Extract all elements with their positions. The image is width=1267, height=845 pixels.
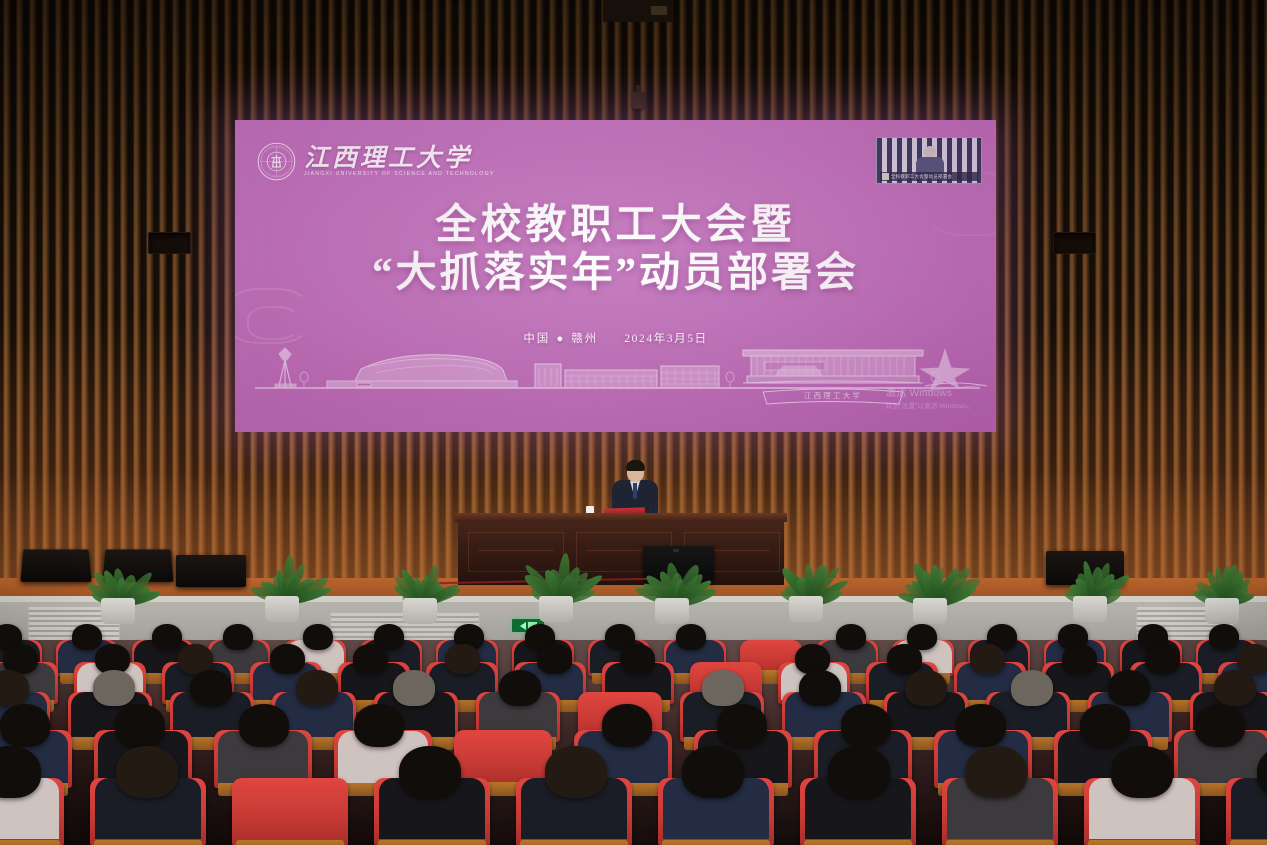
- seated-audience-member-head: [905, 670, 947, 706]
- seated-audience-member-head: [445, 644, 480, 674]
- seated-audience-member-head: [717, 704, 767, 747]
- plant-pot: [655, 598, 689, 624]
- seated-audience-member-head: [965, 746, 1027, 798]
- seated-audience-member-head: [354, 704, 404, 747]
- seated-audience-member-head: [702, 670, 744, 706]
- seated-audience-member-head: [799, 670, 841, 706]
- residential-block-icon: [535, 364, 719, 388]
- seated-audience-member-head: [1145, 644, 1180, 674]
- seated-audience-member-head: [1209, 624, 1239, 650]
- table-top: [455, 513, 787, 522]
- ceiling-projector-icon: [632, 92, 645, 109]
- screen-title-line2: “大抓落实年”动员部署会: [235, 248, 996, 296]
- auditorium-seat: [232, 778, 348, 845]
- seated-audience-member-head: [841, 704, 891, 747]
- potted-plant: [906, 544, 954, 624]
- seated-audience-member-head: [72, 624, 102, 650]
- campus-skyline-illustration: 江西理工大学: [235, 336, 996, 410]
- university-logo-lockup: 江西理工大学 JIANGXI UNIVERSITY OF SCIENCE AND…: [257, 142, 495, 181]
- seated-audience-member-head: [223, 624, 253, 650]
- plant-pot: [913, 598, 947, 624]
- university-name-en: JIANGXI UNIVERSITY OF SCIENCE AND TECHNO…: [304, 172, 495, 177]
- potted-plant: [1198, 552, 1246, 624]
- speaker-hair: [626, 460, 645, 471]
- seated-audience-member-head: [115, 704, 165, 747]
- seated-audience-member-head: [0, 704, 50, 747]
- seated-audience-member-head: [828, 746, 890, 798]
- seated-audience-member-head: [116, 746, 178, 798]
- seated-audience-member-head: [239, 704, 289, 747]
- screen-title-line1: 全校教职工大会暨: [235, 200, 996, 248]
- potted-plant: [94, 550, 142, 624]
- plant-pot: [101, 598, 135, 624]
- conference-table: [455, 513, 787, 585]
- seated-audience-member-head: [1011, 670, 1053, 706]
- potted-plant: [258, 544, 306, 622]
- stage-monitor-left-1: [20, 550, 91, 582]
- seated-audience-member-head: [303, 624, 333, 650]
- seated-audience-member-head: [545, 746, 607, 798]
- seated-audience-member-head: [93, 670, 135, 706]
- potted-plant: [1066, 548, 1114, 622]
- wall-speaker-left: [148, 232, 191, 254]
- pip-video-feed: 全校教职工大会暨动员部署会: [876, 137, 982, 184]
- seated-audience-member-head: [1237, 644, 1267, 674]
- seated-audience-member-head: [1062, 644, 1097, 674]
- exit-arrow-icon: [520, 622, 526, 630]
- seated-audience-member-head: [1111, 746, 1173, 798]
- seated-audience-member-head: [970, 644, 1005, 674]
- potted-plant: [396, 552, 444, 624]
- seated-audience-member-head: [682, 746, 744, 798]
- seated-audience-member-head: [1108, 670, 1150, 706]
- seated-audience-member-head: [887, 644, 922, 674]
- screen-title-block: 全校教职工大会暨 “大抓落实年”动员部署会: [235, 200, 996, 297]
- seated-audience-member-head: [190, 670, 232, 706]
- seated-audience-member-head: [393, 670, 435, 706]
- wall-speaker-right: [1053, 232, 1096, 254]
- plant-pot: [1073, 596, 1107, 622]
- seated-audience-member-head: [676, 624, 706, 650]
- pip-caption-thumb-icon: [882, 173, 889, 180]
- seated-audience-member-head: [152, 624, 182, 650]
- pip-caption-bar: 全校教职工大会暨动员部署会: [880, 172, 978, 181]
- ceiling-equipment-box: [651, 6, 667, 15]
- seated-audience-member-head: [1195, 704, 1245, 747]
- seated-audience-member-head: [399, 746, 461, 798]
- seated-audience-member-head: [270, 644, 305, 674]
- star-landmark-icon: [921, 350, 987, 391]
- potted-plant: [532, 542, 580, 622]
- pip-caption-text: 全校教职工大会暨动员部署会: [891, 174, 952, 180]
- speaker-tie: [633, 483, 637, 498]
- seated-audience-member-head: [836, 624, 866, 650]
- seated-audience-member-head: [602, 704, 652, 747]
- led-presentation-screen: 江西理工大学 JIANGXI UNIVERSITY OF SCIENCE AND…: [235, 120, 996, 432]
- stage-monitor-left-3: [176, 555, 246, 587]
- plant-pot: [403, 598, 437, 624]
- seated-audience-member-head: [537, 644, 572, 674]
- seated-audience-member-head: [499, 670, 541, 706]
- plant-pot: [1205, 598, 1239, 624]
- seated-audience-member-head: [1214, 670, 1256, 706]
- seated-audience-member-head: [296, 670, 338, 706]
- monument-sculpture-icon: [275, 348, 296, 388]
- university-name-cn: 江西理工大学: [304, 146, 495, 171]
- university-seal-icon: [257, 142, 296, 181]
- plant-pot: [789, 596, 823, 622]
- table-front: [458, 522, 784, 585]
- skyline-gate-label: 江西理工大学: [804, 390, 862, 400]
- plant-pot: [539, 596, 573, 622]
- potted-plant: [782, 546, 830, 622]
- auditorium-scene: 江西理工大学 JIANGXI UNIVERSITY OF SCIENCE AND…: [0, 0, 1267, 845]
- seated-audience-member-head: [620, 644, 655, 674]
- seated-audience-member-head: [353, 644, 388, 674]
- plant-pot: [265, 596, 299, 622]
- seated-audience-member-head: [1080, 704, 1130, 747]
- seated-audience-member-head: [956, 704, 1006, 747]
- stadium-arena-icon: [327, 355, 517, 388]
- potted-plant: [648, 548, 696, 624]
- audience-seating-area: [0, 640, 1267, 845]
